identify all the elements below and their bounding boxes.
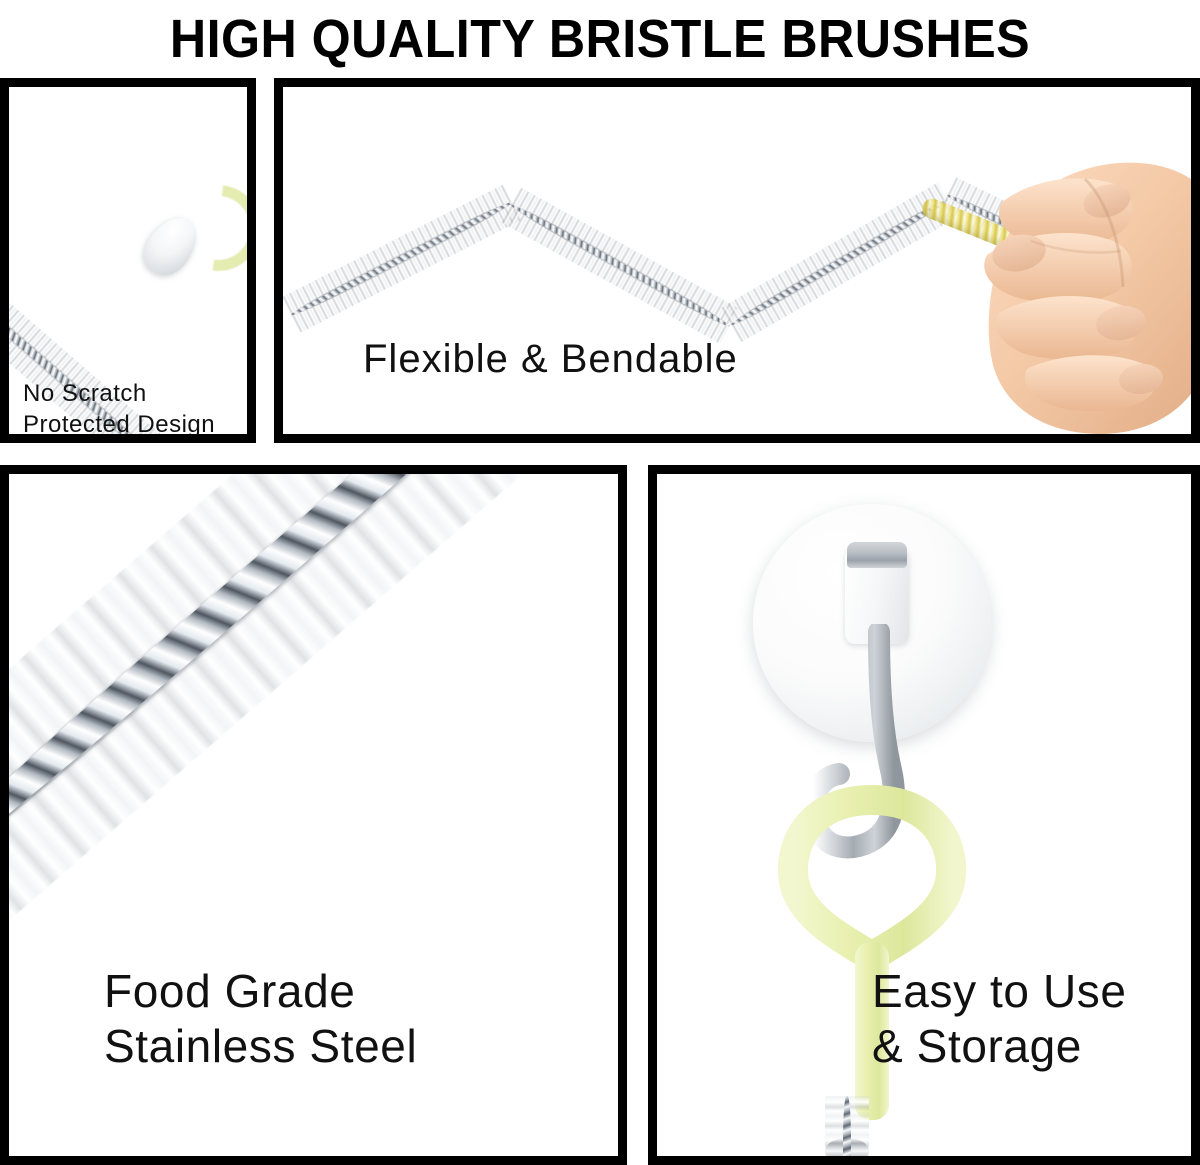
panel-caption-stainless-steel: Food Grade Stainless Steel — [104, 964, 417, 1074]
steel-core — [729, 197, 949, 328]
zigzag-segment — [501, 188, 739, 344]
zigzag-segment — [282, 185, 521, 333]
panel-caption-no-scratch: No Scratch Protected Design — [23, 379, 215, 440]
macro-brush — [0, 465, 627, 971]
panel-easy-storage: Easy to Use & Storage — [648, 465, 1200, 1165]
panel-no-scratch: No Scratch Protected Design — [0, 78, 256, 443]
brush-head-icon — [825, 1096, 869, 1165]
page-title: HIGH QUALITY BRISTLE BRUSHES — [42, 0, 1158, 78]
infographic-canvas: HIGH QUALITY BRISTLE BRUSHES No Scratch … — [0, 0, 1200, 1157]
no-scratch-illustration — [3, 87, 255, 387]
panel-stainless-steel: Food Grade Stainless Steel — [0, 465, 627, 1165]
flexible-illustration — [283, 87, 1191, 434]
steel-core — [290, 200, 514, 318]
panel-caption-flexible: Flexible & Bendable — [363, 337, 738, 382]
hand-holding-brush-icon — [935, 117, 1200, 434]
hook-base-cap — [847, 542, 907, 568]
steel-core — [509, 202, 731, 329]
panel-caption-easy-storage: Easy to Use & Storage — [872, 964, 1127, 1074]
panel-flexible: Flexible & Bendable — [274, 78, 1200, 443]
